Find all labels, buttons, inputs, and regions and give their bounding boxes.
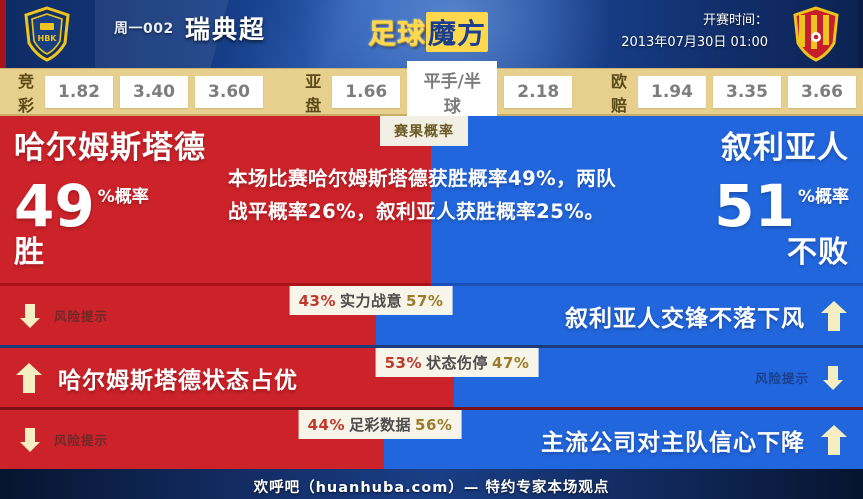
odds-cell[interactable]: 2.18 (504, 76, 572, 108)
comparison-metric-tag: 53%状态伤停47% (376, 348, 539, 377)
probability-hero: 哈尔姆斯塔德 49%概率 胜 叙利亚人 51%概率 不败 赛果概率 本场比赛哈尔… (0, 116, 863, 286)
metric-home-pct: 53% (385, 354, 422, 372)
odds-cell[interactable]: 3.66 (788, 76, 856, 108)
away-probability-number: 51 (714, 175, 795, 237)
metric-home-pct: 43% (299, 292, 336, 310)
header-left-red-edge (0, 0, 6, 68)
odds-cell[interactable]: 3.40 (120, 76, 188, 108)
odds-cell[interactable]: 1.66 (332, 76, 400, 108)
site-logo-text-1: 足球 (368, 12, 426, 52)
odds-group-label: 欧赔 (611, 68, 628, 116)
away-insight-text: 叙利亚人交锋不落下风 (565, 299, 805, 333)
home-probability-number: 49 (14, 175, 95, 237)
risk-warning-label: 风险提示 (54, 306, 108, 325)
odds-cell-handicap[interactable]: 平手/半球 (407, 61, 497, 123)
section-tag-result-probability: 赛果概率 (380, 116, 468, 146)
comparison-row: 风险提示叙利亚人交锋不落下风43%实力战意57% (0, 286, 863, 345)
site-logo: 足球魔方 (355, 8, 501, 56)
metric-away-pct: 56% (415, 416, 452, 434)
arrow-down-icon (20, 304, 40, 328)
home-team-name: 哈尔姆斯塔德 (14, 130, 206, 166)
comparison-rows: 风险提示叙利亚人交锋不落下风43%实力战意57%哈尔姆斯塔德状态占优风险提示53… (0, 286, 863, 469)
away-probability-unit: %概率 (798, 166, 849, 228)
odds-cell[interactable]: 3.35 (713, 76, 781, 108)
odds-group-oupei: 欧赔 1.94 3.35 3.66 (593, 68, 863, 116)
match-number: 周一002 (114, 18, 174, 38)
away-probability-value: 51%概率 (714, 166, 849, 237)
probability-summary-text: 本场比赛哈尔姆斯塔德获胜概率49%，两队战平概率26%，叙利亚人获胜概率25%。 (228, 162, 628, 228)
odds-group-label: 亚盘 (305, 68, 322, 116)
arrow-down-icon (20, 428, 40, 452)
risk-warning-label: 风险提示 (755, 368, 809, 387)
comparison-metric-tag: 43%实力战意57% (290, 286, 453, 315)
arrow-up-icon (821, 425, 847, 455)
odds-cell[interactable]: 1.94 (638, 76, 706, 108)
metric-name: 状态伤停 (426, 354, 488, 372)
arrow-up-icon (821, 301, 847, 331)
odds-cell[interactable]: 3.60 (195, 76, 263, 108)
odds-group-yapan: 亚盘 1.66 平手/半球 2.18 (287, 61, 579, 123)
home-probability-value: 49%概率 (14, 166, 206, 237)
league-name: 瑞典超 (185, 10, 266, 46)
metric-away-pct: 57% (406, 292, 443, 310)
comparison-row: 哈尔姆斯塔德状态占优风险提示53%状态伤停47% (0, 345, 863, 407)
kickoff-block: 开赛时间： 2013年07月30日 01:00 (621, 10, 768, 54)
risk-warning-label: 风险提示 (54, 430, 108, 449)
comparison-row: 风险提示主流公司对主队信心下降44%足彩数据56% (0, 407, 863, 469)
home-team-crest-icon: HBK (18, 5, 76, 63)
away-team-name: 叙利亚人 (714, 130, 849, 166)
odds-bar: 竞彩 1.82 3.40 3.60 亚盘 1.66 平手/半球 2.18 欧赔 … (0, 68, 863, 116)
footer: 欢呼吧（huanhuba.com）— 特约专家本场观点 (0, 469, 863, 499)
home-outcome-label: 胜 (14, 237, 206, 269)
arrow-up-icon (16, 363, 42, 393)
kickoff-value: 2013年07月30日 01:00 (621, 32, 768, 54)
arrow-down-icon (823, 366, 843, 390)
away-outcome-label: 不败 (714, 237, 849, 269)
header: HBK 周一002 瑞典超 足球魔方 开赛时间： 2013年07月30日 01:… (0, 0, 863, 68)
metric-name: 实力战意 (340, 292, 402, 310)
away-insight-text: 主流公司对主队信心下降 (541, 423, 805, 457)
kickoff-label: 开赛时间： (621, 10, 768, 32)
metric-home-pct: 44% (308, 416, 345, 434)
comparison-metric-tag: 44%足彩数据56% (299, 410, 462, 439)
home-team-block: 哈尔姆斯塔德 49%概率 胜 (14, 130, 206, 269)
odds-group-jingcai: 竞彩 1.82 3.40 3.60 (0, 68, 270, 116)
match-analysis-infographic: HBK 周一002 瑞典超 足球魔方 开赛时间： 2013年07月30日 01:… (0, 0, 863, 499)
site-logo-text-2: 魔方 (426, 12, 488, 52)
odds-cell[interactable]: 1.82 (45, 76, 113, 108)
metric-away-pct: 47% (492, 354, 529, 372)
metric-name: 足彩数据 (349, 416, 411, 434)
svg-text:HBK: HBK (38, 34, 58, 43)
home-probability-unit: %概率 (98, 166, 149, 228)
home-insight-text: 哈尔姆斯塔德状态占优 (58, 361, 298, 395)
away-team-block: 叙利亚人 51%概率 不败 (714, 130, 849, 269)
away-team-crest-icon (787, 5, 845, 63)
footer-credit: 欢呼吧（huanhuba.com）— 特约专家本场观点 (254, 476, 610, 497)
header-right-edge (858, 0, 863, 68)
odds-group-label: 竞彩 (18, 68, 35, 116)
